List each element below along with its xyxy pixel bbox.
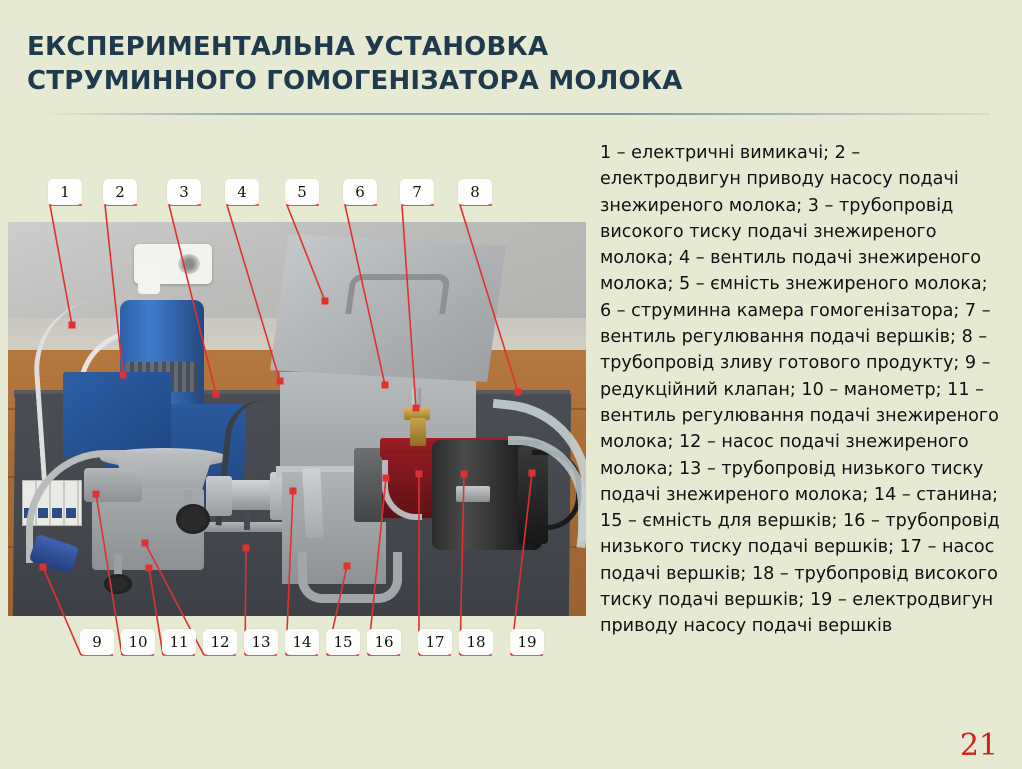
callout-label-9: 9	[80, 629, 114, 655]
photo-u-pipe	[298, 552, 402, 603]
page-number: 21	[960, 728, 998, 763]
title-divider	[40, 113, 990, 115]
callout-label-7: 7	[400, 179, 434, 205]
photo-black-knob	[104, 574, 132, 594]
callout-label-19: 19	[510, 629, 544, 655]
legend-text: 1 – електричні вимикачі; 2 – електродвиг…	[600, 140, 1000, 640]
callout-label-2: 2	[103, 179, 137, 205]
callout-label-8: 8	[458, 179, 492, 205]
callout-label-16: 16	[367, 629, 401, 655]
callout-label-5: 5	[285, 179, 319, 205]
page-title: ЕКСПЕРИМЕНТАЛЬНА УСТАНОВКА СТРУМИННОГО Г…	[27, 30, 787, 98]
callout-label-15: 15	[326, 629, 360, 655]
photo-socket-hole	[178, 254, 200, 274]
photo-blue-terminal-box	[63, 372, 171, 458]
callout-label-4: 4	[225, 179, 259, 205]
callout-label-1: 1	[48, 179, 82, 205]
photo-nut-1	[206, 476, 232, 516]
callout-label-17: 17	[418, 629, 452, 655]
photo-pump-head	[84, 468, 142, 502]
callout-label-14: 14	[285, 629, 319, 655]
photo-brass-fitting	[410, 418, 426, 446]
photo-tank-handle	[345, 274, 451, 314]
photo-cream-tank-clip	[302, 468, 324, 539]
callout-label-18: 18	[459, 629, 493, 655]
callout-label-12: 12	[203, 629, 237, 655]
callout-label-10: 10	[121, 629, 155, 655]
callout-label-13: 13	[244, 629, 278, 655]
slide: ЕКСПЕРИМЕНТАЛЬНА УСТАНОВКА СТРУМИННОГО Г…	[0, 0, 1022, 769]
photo-black-valve	[176, 504, 210, 534]
photo-plug	[138, 262, 160, 294]
callout-label-11: 11	[162, 629, 196, 655]
callout-label-6: 6	[343, 179, 377, 205]
callout-label-3: 3	[167, 179, 201, 205]
equipment-photo	[8, 222, 586, 616]
